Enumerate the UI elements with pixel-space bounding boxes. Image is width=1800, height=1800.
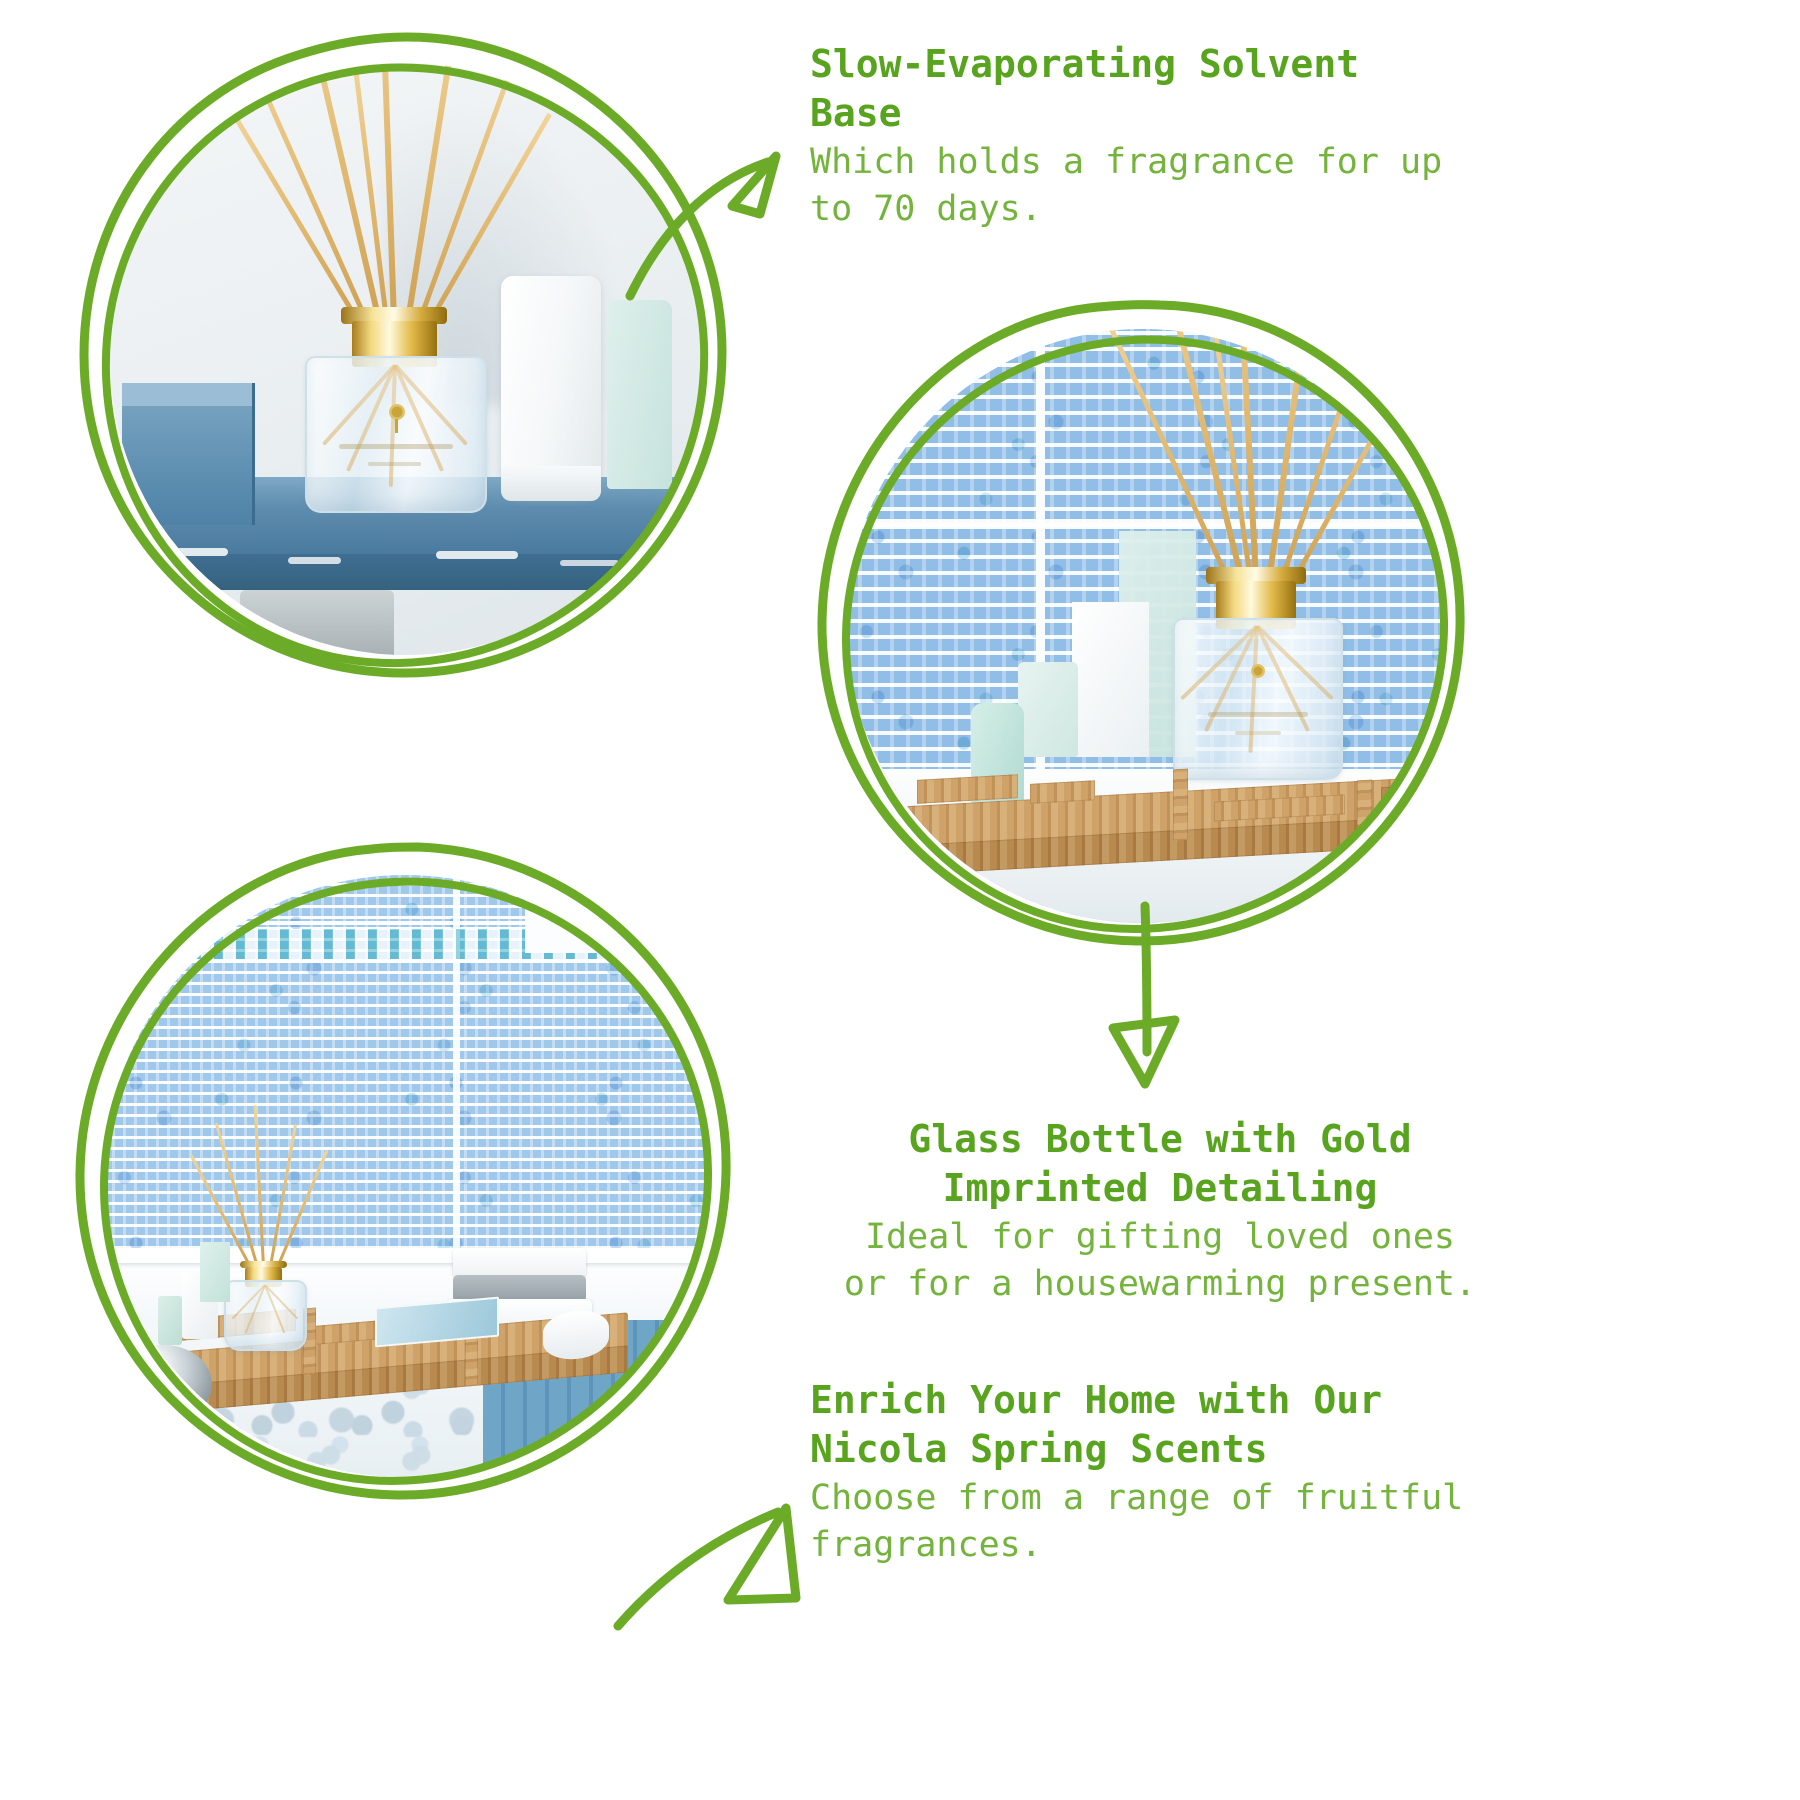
feature-photo-2 bbox=[808, 295, 1468, 955]
feature-1-heading: Slow-Evaporating Solvent Base bbox=[810, 40, 1510, 139]
infographic-stage: Slow-Evaporating Solvent Base Which hold… bbox=[0, 0, 1800, 1800]
feature-1-body: Which holds a fragrance for up to 70 day… bbox=[810, 139, 1510, 234]
arrow-up-right-from-photo-3 bbox=[600, 1400, 840, 1630]
feature-2-body: Ideal for gifting loved ones or for a ho… bbox=[800, 1214, 1520, 1309]
feature-3-heading: Enrich Your Home with Our Nicola Spring … bbox=[810, 1376, 1520, 1475]
feature-3-body: Choose from a range of fruitful fragranc… bbox=[810, 1475, 1520, 1570]
feature-text-2: Glass Bottle with Gold Imprinted Detaili… bbox=[800, 1115, 1520, 1309]
arrow-up-right-from-photo-1 bbox=[600, 110, 830, 300]
feature-text-3: Enrich Your Home with Our Nicola Spring … bbox=[810, 1376, 1520, 1570]
arrow-down-from-photo-2 bbox=[1085, 900, 1225, 1120]
hand-drawn-ring-2 bbox=[808, 295, 1468, 955]
feature-2-heading: Glass Bottle with Gold Imprinted Detaili… bbox=[800, 1115, 1520, 1214]
feature-text-1: Slow-Evaporating Solvent Base Which hold… bbox=[810, 40, 1510, 234]
